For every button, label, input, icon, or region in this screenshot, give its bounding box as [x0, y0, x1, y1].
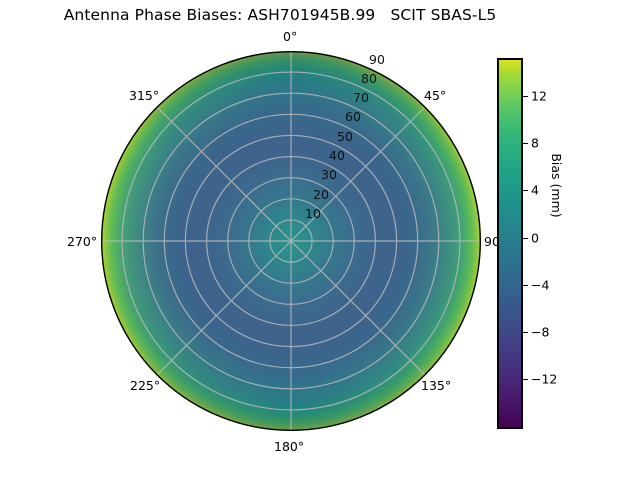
angle-label-45: 45° — [424, 88, 446, 103]
angle-label-315: 315° — [129, 88, 159, 103]
radius-label-40: 40 — [329, 148, 345, 163]
colorbar-ticklabel-0: 0 — [531, 231, 539, 246]
radius-label-90: 90 — [369, 52, 385, 67]
colorbar-tickmark-12 — [523, 96, 528, 97]
radius-label-50: 50 — [337, 129, 353, 144]
angle-label-225: 225° — [130, 378, 160, 393]
colorbar-gradient[interactable] — [497, 58, 523, 429]
radius-label-70: 70 — [353, 90, 369, 105]
figure-canvas: Antenna Phase Biases: ASH701945B.99 SCIT… — [0, 0, 640, 480]
colorbar-tickmark-0 — [523, 238, 528, 239]
colorbar-tickmark-8 — [523, 143, 528, 144]
colorbar-axis-label: Bias (mm) — [543, 0, 569, 371]
radius-label-20: 20 — [313, 187, 329, 202]
angle-label-180: 180° — [274, 439, 304, 454]
colorbar-tickmark-m12 — [523, 379, 528, 380]
colorbar[interactable]: 12 8 4 0 −4 −8 −12 — [497, 58, 523, 429]
angle-label-135: 135° — [421, 378, 451, 393]
radius-label-60: 60 — [345, 109, 361, 124]
angle-label-270: 270° — [67, 234, 97, 249]
angle-label-0: 0° — [283, 29, 297, 44]
colorbar-ticklabel-m12: −12 — [531, 372, 557, 387]
radius-label-10: 10 — [305, 206, 321, 221]
colorbar-tickmark-4 — [523, 190, 528, 191]
polar-axes[interactable] — [101, 51, 481, 431]
colorbar-tickmark-m4 — [523, 285, 528, 286]
page-title: Antenna Phase Biases: ASH701945B.99 SCIT… — [0, 6, 560, 24]
radius-label-80: 80 — [361, 71, 377, 86]
colorbar-tickmark-m8 — [523, 332, 528, 333]
colorbar-ticklabel-8: 8 — [531, 136, 539, 151]
polar-plot-surface[interactable] — [101, 51, 481, 431]
colorbar-ticklabel-4: 4 — [531, 183, 539, 198]
radius-label-30: 30 — [321, 167, 337, 182]
polar-grid — [101, 51, 481, 431]
